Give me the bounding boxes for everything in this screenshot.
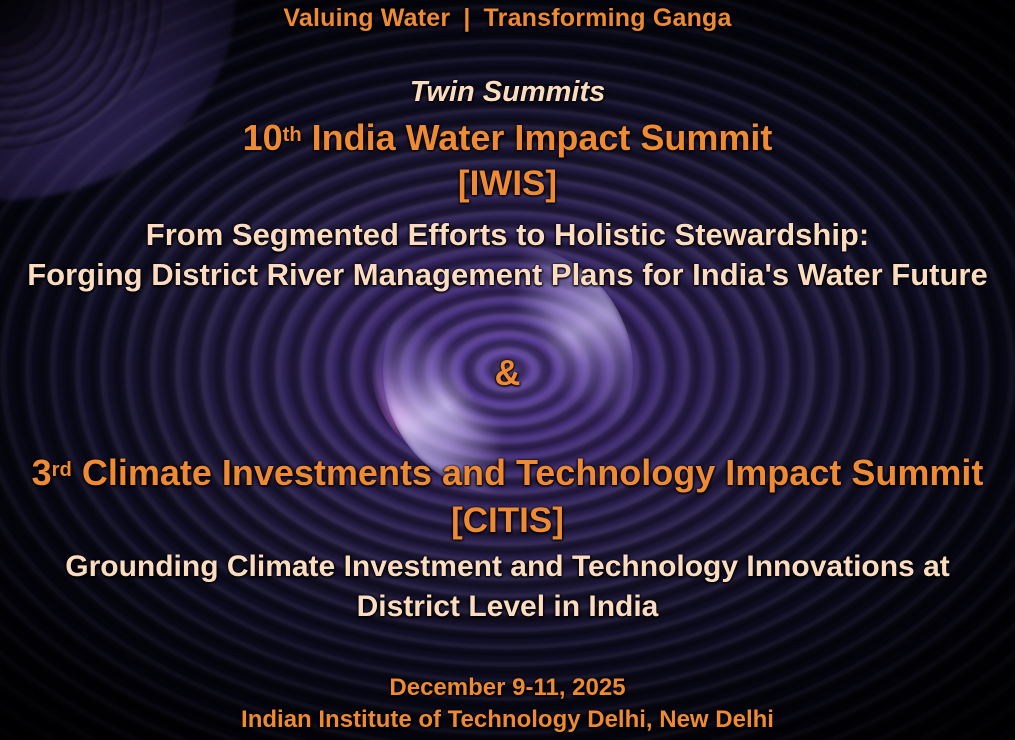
citis-subtitle-line-2: District Level in India: [0, 592, 1015, 622]
event-venue: Indian Institute of Technology Delhi, Ne…: [0, 708, 1015, 732]
tagline-left: Valuing Water: [283, 4, 450, 32]
poster-content: Valuing Water|Transforming Ganga Twin Su…: [0, 0, 1015, 740]
iwis-title: 10th India Water Impact Summit: [0, 120, 1015, 156]
citis-ordinal-suffix: rd: [52, 459, 72, 481]
citis-title-text: Climate Investments and Technology Impac…: [72, 452, 984, 493]
tagline: Valuing Water|Transforming Ganga: [0, 6, 1015, 31]
twin-summits-label: Twin Summits: [0, 78, 1015, 107]
event-date: December 9-11, 2025: [0, 676, 1015, 700]
tagline-separator: |: [450, 4, 483, 32]
tagline-right: Transforming Ganga: [484, 4, 732, 32]
conjunction-ampersand: &: [0, 355, 1015, 391]
iwis-subtitle-line-1: From Segmented Efforts to Holistic Stewa…: [0, 219, 1015, 250]
iwis-subtitle-line-2: Forging District River Management Plans …: [0, 259, 1015, 290]
citis-ordinal-number: 3: [32, 452, 52, 493]
citis-subtitle-line-1: Grounding Climate Investment and Technol…: [0, 552, 1015, 582]
iwis-acronym: [IWIS]: [0, 166, 1015, 201]
citis-acronym: [CITIS]: [0, 503, 1015, 538]
iwis-ordinal-suffix: th: [283, 124, 302, 146]
iwis-title-text: India Water Impact Summit: [302, 117, 773, 158]
summit-poster: Valuing Water|Transforming Ganga Twin Su…: [0, 0, 1015, 740]
citis-title: 3rd Climate Investments and Technology I…: [0, 455, 1015, 491]
iwis-ordinal-number: 10: [243, 117, 283, 158]
